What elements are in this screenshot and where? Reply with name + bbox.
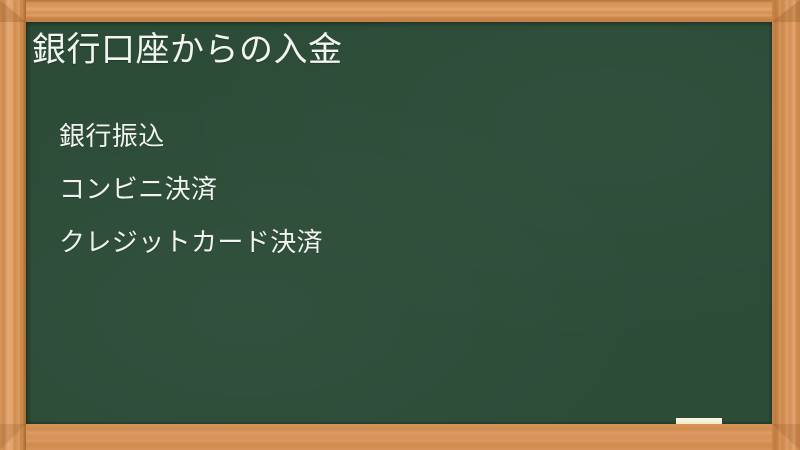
payment-method-list: 銀行振込 コンビニ決済 クレジットカード決済 bbox=[59, 110, 323, 269]
frame-bottom-rail bbox=[0, 424, 800, 450]
frame-left-rail bbox=[0, 0, 26, 450]
list-item: 銀行振込 bbox=[59, 110, 323, 163]
chalk-stick-icon bbox=[676, 418, 722, 424]
frame-corner-top-left bbox=[0, 0, 26, 22]
frame-top-rail bbox=[0, 0, 800, 22]
list-item: コンビニ決済 bbox=[59, 163, 323, 216]
chalkboard-frame: 銀行口座からの入金 銀行振込 コンビニ決済 クレジットカード決済 bbox=[0, 0, 800, 450]
page-title: 銀行口座からの入金 bbox=[32, 28, 343, 72]
frame-right-rail bbox=[772, 0, 800, 450]
frame-corner-bottom-right bbox=[772, 424, 800, 450]
list-item: クレジットカード決済 bbox=[59, 216, 323, 269]
blackboard-surface: 銀行口座からの入金 銀行振込 コンビニ決済 クレジットカード決済 bbox=[26, 22, 772, 424]
frame-corner-top-right bbox=[772, 0, 800, 22]
frame-corner-bottom-left bbox=[0, 424, 26, 450]
